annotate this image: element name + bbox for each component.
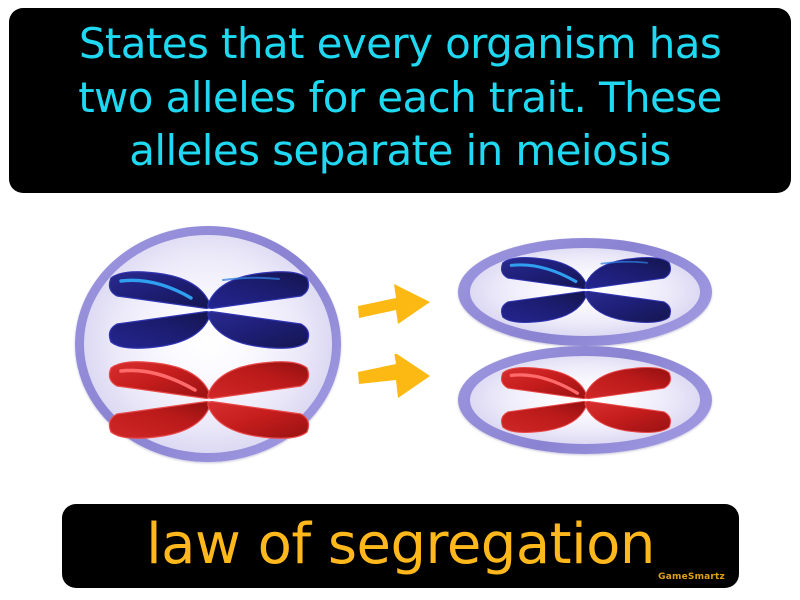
red-chromosome-icon bbox=[496, 364, 676, 436]
definition-banner: States that every organism has two allel… bbox=[9, 8, 791, 193]
red-chromosome-icon bbox=[103, 358, 315, 442]
daughter-cell-blue bbox=[458, 238, 712, 346]
term-label: law of segregation bbox=[146, 517, 655, 573]
term-banner: law of segregation GameSmartz bbox=[62, 504, 739, 588]
blue-chromosome-icon bbox=[103, 268, 315, 352]
meiosis-illustration bbox=[0, 198, 800, 498]
blue-chromosome-icon bbox=[496, 254, 676, 326]
daughter-cell-red bbox=[458, 346, 712, 454]
arrow-bottom-icon bbox=[356, 354, 432, 413]
parent-cell bbox=[75, 226, 341, 462]
definition-text: States that every organism has two allel… bbox=[23, 17, 777, 178]
watermark-label: GameSmartz bbox=[658, 572, 725, 582]
flashcard: States that every organism has two allel… bbox=[0, 0, 800, 600]
arrow-top-icon bbox=[356, 278, 432, 337]
